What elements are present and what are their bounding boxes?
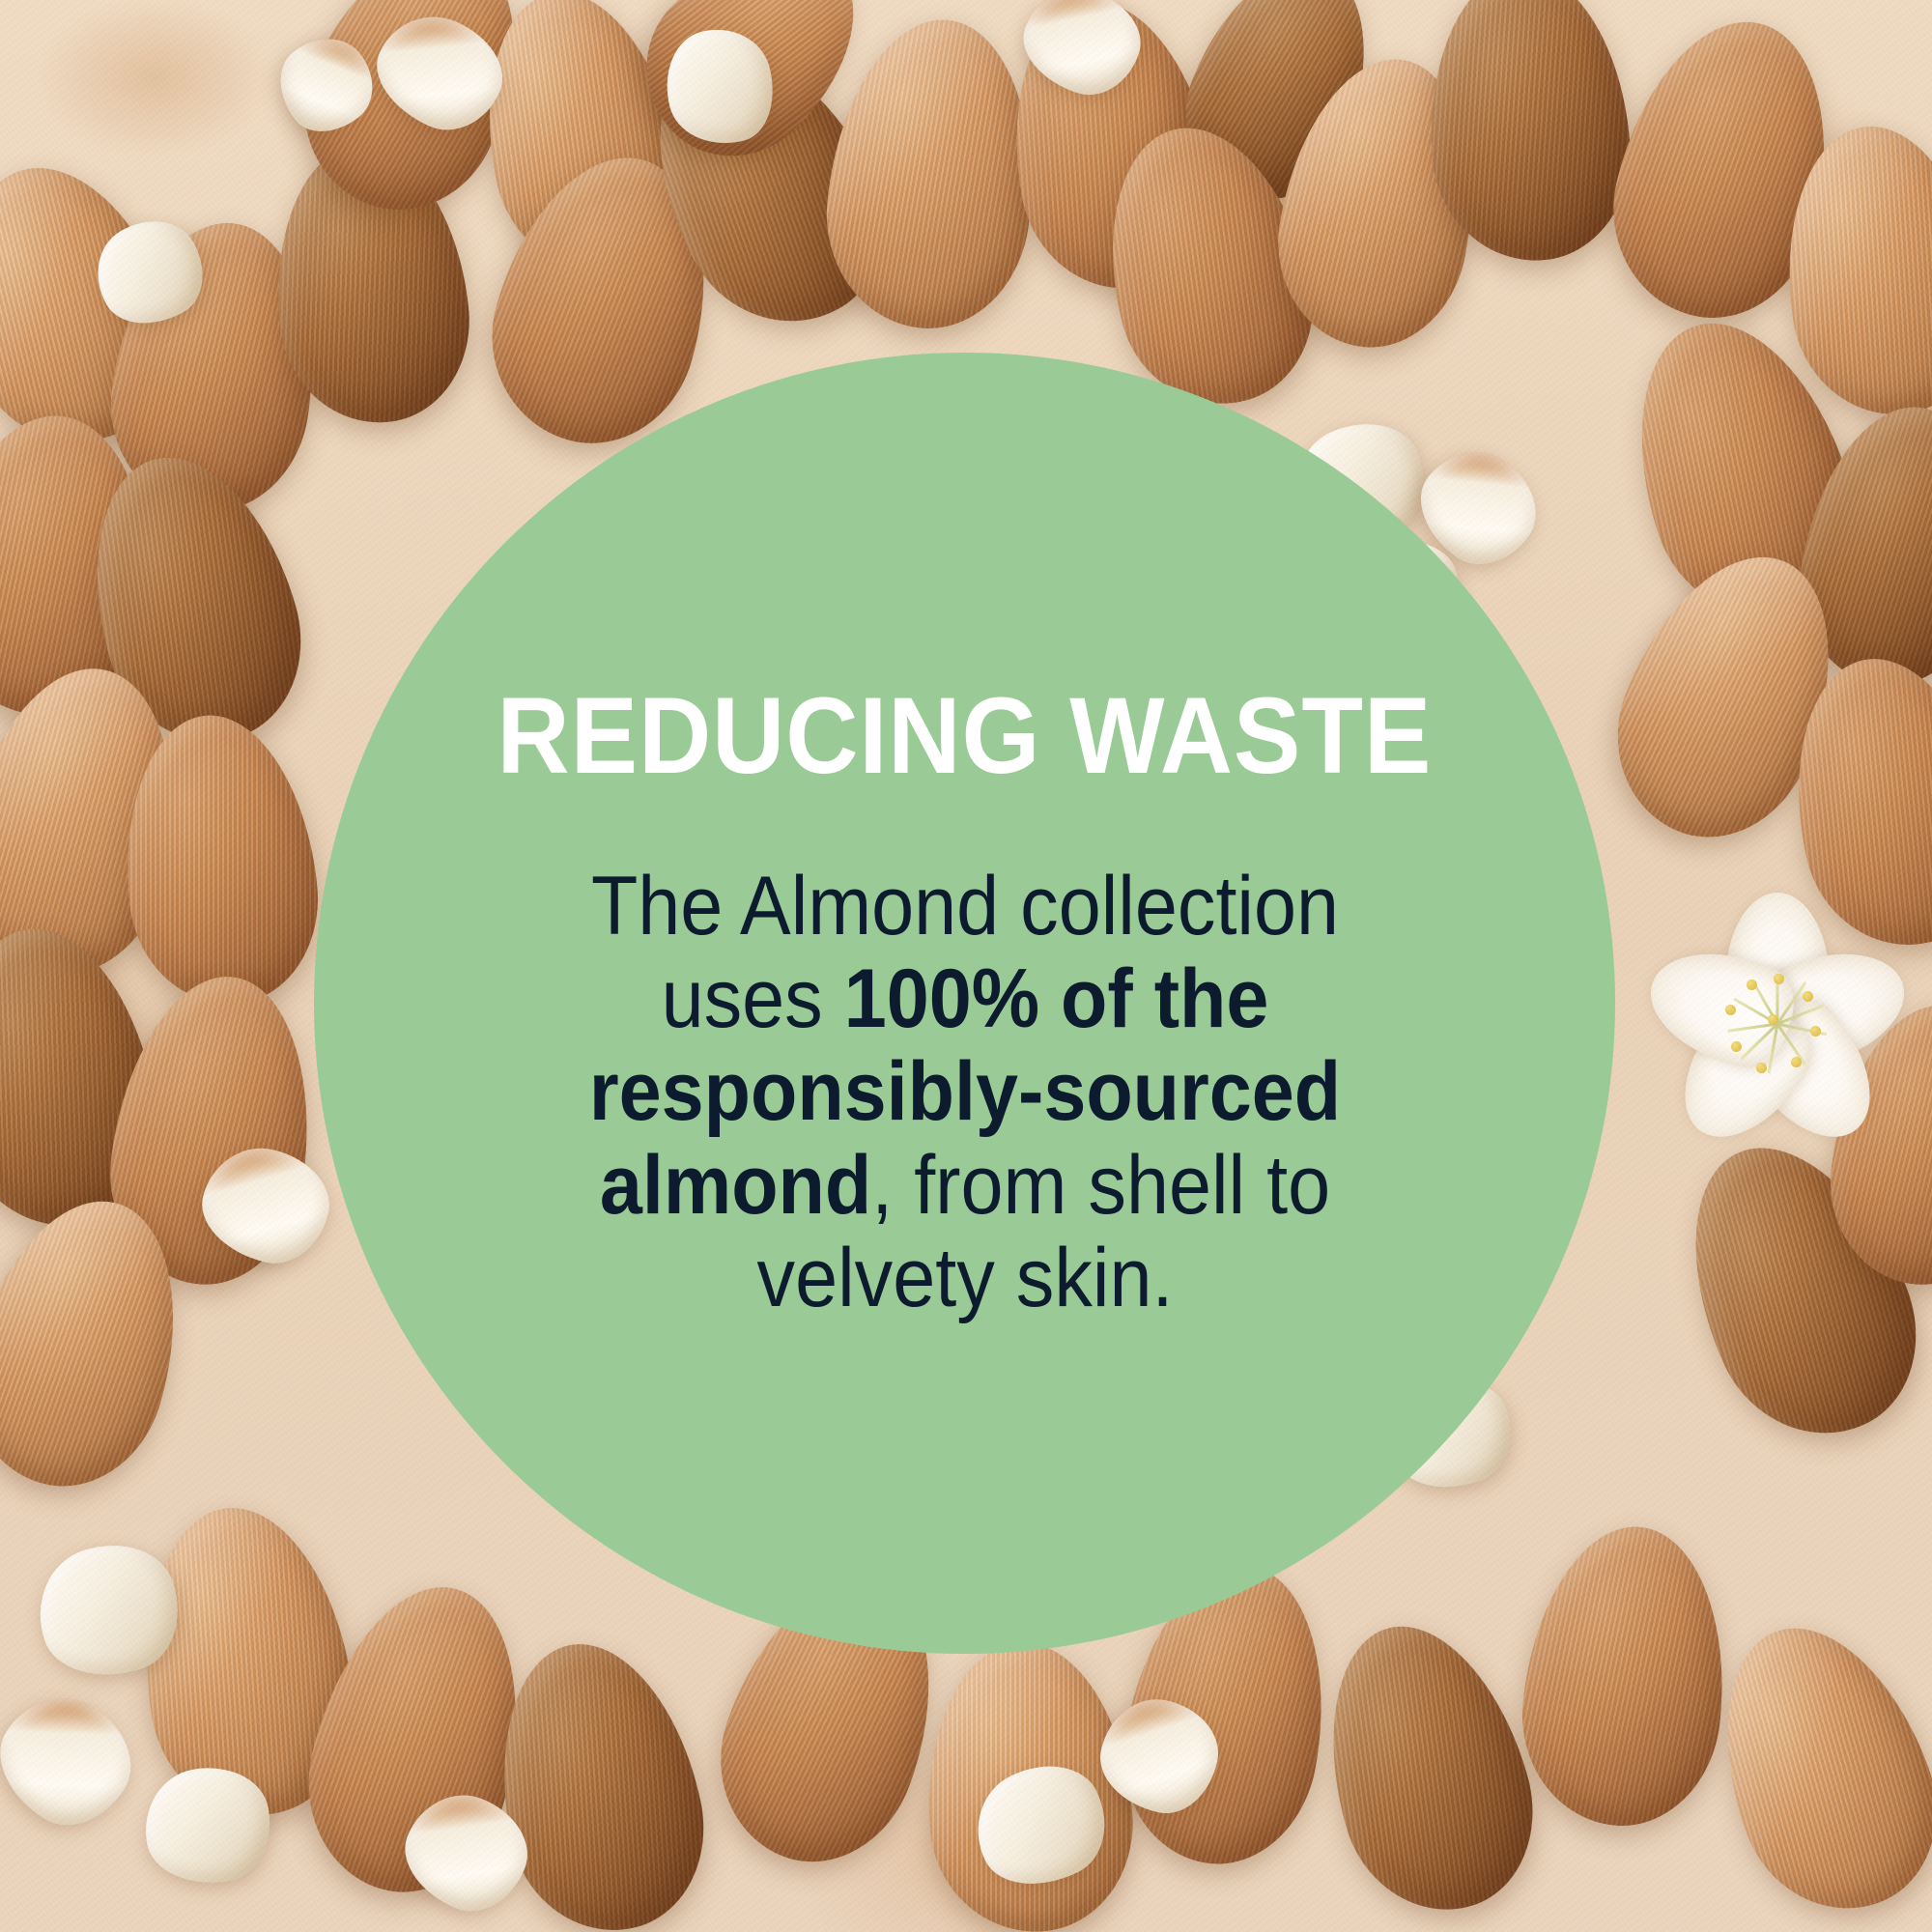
blossom-anther [1810,1026,1821,1037]
blossom-stamens [1710,956,1845,1092]
almond-blossom [1633,879,1922,1198]
blossom-anther [1791,1057,1802,1067]
green-circle-badge: REDUCING WASTE The Almond collection use… [314,353,1615,1654]
promo-card: REDUCING WASTE The Almond collection use… [0,0,1932,1932]
badge-body-copy: The Almond collection uses 100% of the r… [521,860,1409,1325]
blossom-anther [1756,1063,1767,1073]
blossom-anther [1803,991,1813,1002]
badge-headline: REDUCING WASTE [497,682,1433,790]
blossom-anther [1768,1014,1778,1025]
blossom-anther [1747,980,1757,990]
blossom-anther [1774,974,1784,984]
blossom-anther [1731,1041,1742,1052]
blossom-anther [1725,1005,1736,1015]
